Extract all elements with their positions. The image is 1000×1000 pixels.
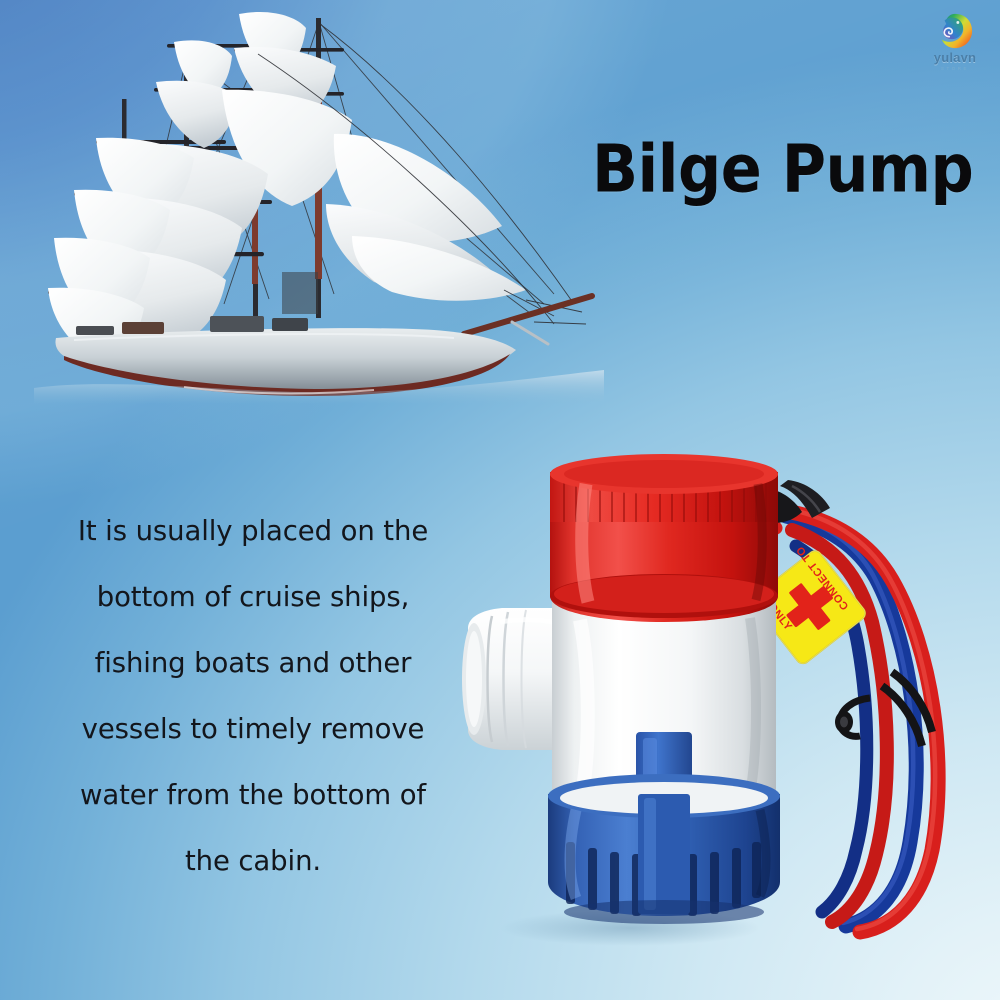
description-line-5: water from the bottom of bbox=[18, 762, 488, 828]
tall-ship-illustration bbox=[34, 4, 604, 404]
title-text: Bilge Pump bbox=[592, 131, 973, 208]
bowsprit bbox=[464, 296, 592, 344]
strainer-base bbox=[548, 774, 780, 924]
description-line-3: fishing boats and other bbox=[18, 630, 488, 696]
page-title: Bilge Pump bbox=[592, 133, 952, 205]
description-line-2: bottom of cruise ships, bbox=[18, 564, 488, 630]
description-line-4: vessels to timely remove bbox=[18, 696, 488, 762]
description-line-1: It is usually placed on the bbox=[18, 498, 488, 564]
product-description: It is usually placed on the bottom of cr… bbox=[18, 498, 488, 894]
banner-canvas: ONLY CONNECT TO bbox=[0, 0, 1000, 1000]
brand-logo[interactable]: yulavn store bbox=[918, 12, 992, 86]
motor-cap bbox=[550, 454, 778, 622]
product-image-bilge-pump: ONLY CONNECT TO bbox=[440, 450, 1000, 970]
logo-tagline: store bbox=[941, 66, 969, 71]
logo-wordmark: yulavn bbox=[934, 51, 976, 65]
chameleon-spiral-logo-icon bbox=[936, 12, 974, 50]
jib-sails bbox=[326, 134, 526, 301]
description-line-6: the cabin. bbox=[18, 828, 488, 894]
